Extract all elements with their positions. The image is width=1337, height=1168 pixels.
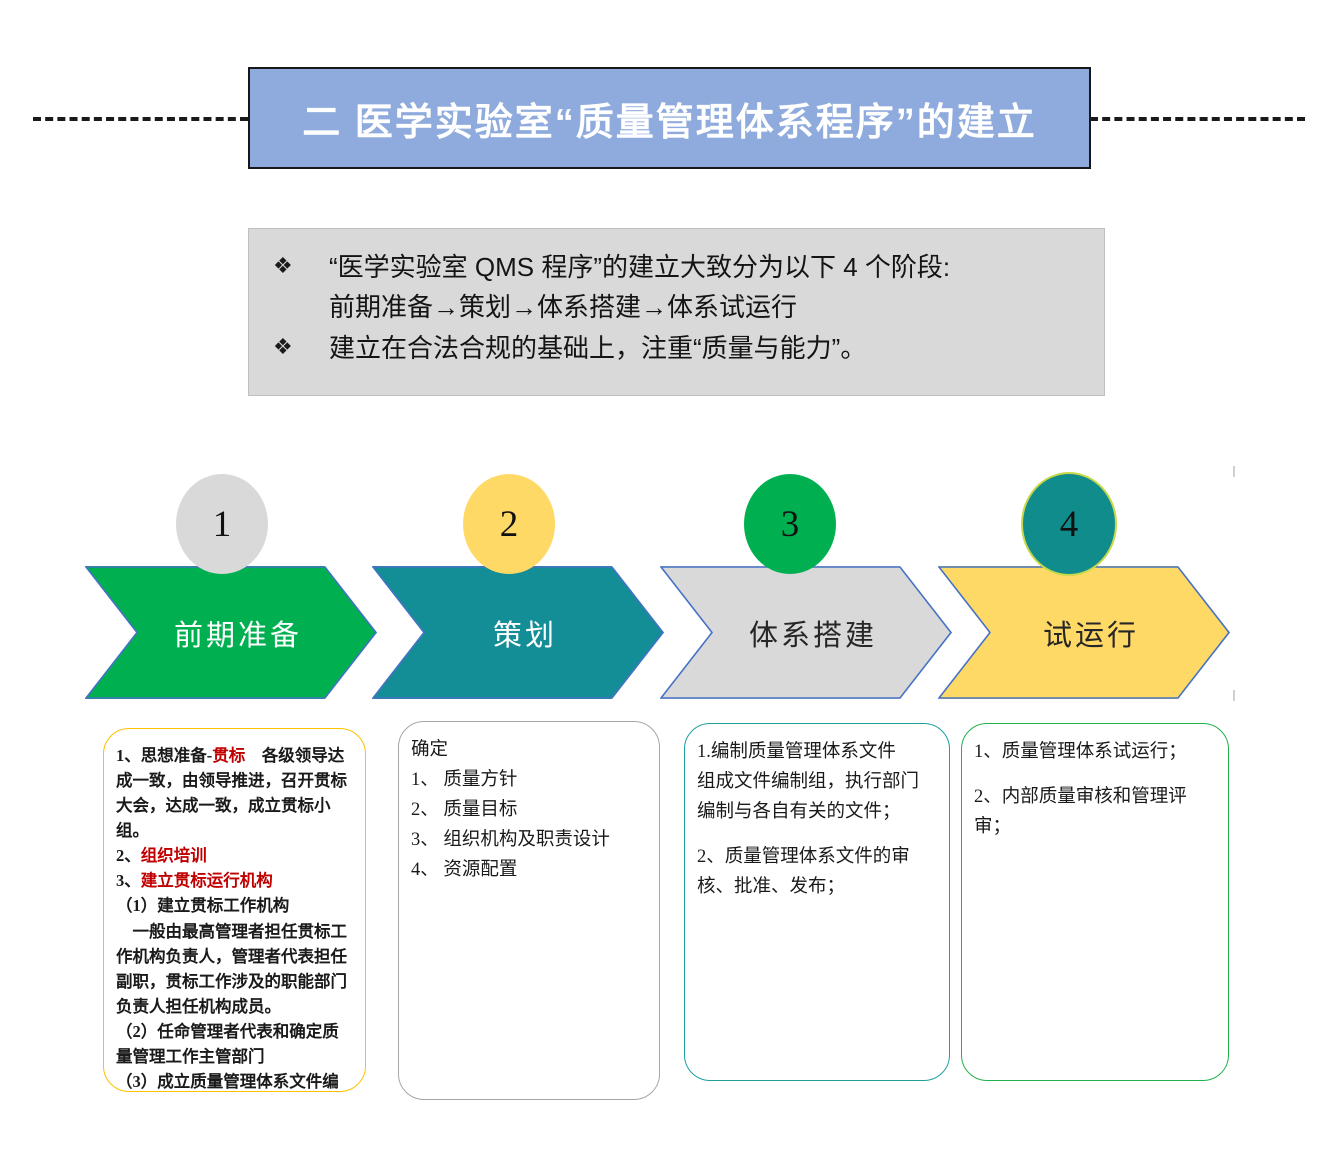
detail-line xyxy=(974,768,1216,783)
stage-detail-box-3[interactable]: 1.编制质量管理体系文件组成文件编制组，执行部门编制与各自有关的文件； 2、质量… xyxy=(684,723,950,1081)
detail-text: （1）建立贯标工作机构 xyxy=(116,896,289,915)
detail-text: 3、 xyxy=(116,871,141,890)
title-row: 二 医学实验室“质量管理体系程序”的建立 xyxy=(0,67,1337,169)
detail-text: 1.编制质量管理体系文件 xyxy=(697,742,896,762)
detail-text: 1、质量管理体系试运行； xyxy=(974,742,1187,762)
detail-text: （3）成立质量管理体系文件编写小组 xyxy=(116,1072,339,1092)
diamond-bullet-icon: ❖ xyxy=(273,247,329,286)
stage-chevron-3[interactable]: 体系搭建 xyxy=(660,566,952,699)
detail-line: 确定 xyxy=(411,736,647,766)
detail-text-highlight: 建立贯标运行机构 xyxy=(141,871,273,890)
detail-text: 3、 组织机构及职责设计 xyxy=(411,830,610,850)
stage-chevron-1[interactable]: 前期准备 xyxy=(85,566,377,699)
detail-line: 2、质量管理体系文件的审核、批准、发布； xyxy=(697,843,937,903)
detail-text: 1、 质量方针 xyxy=(411,770,517,790)
stage-detail-text: 1、思想准备-贯标 各级领导达成一致，由领导推进，召开贯标大会，达成一致，成立贯… xyxy=(104,729,365,1092)
stage-number-label: 2 xyxy=(500,503,519,546)
detail-line xyxy=(697,828,937,843)
stage-detail-text: 确定1、 质量方针2、 质量目标3、 组织机构及职责设计4、 资源配置 xyxy=(399,722,659,900)
detail-line: （1）建立贯标工作机构 xyxy=(116,893,353,918)
decorative-tick-top-icon xyxy=(1233,466,1235,477)
slide-title-banner: 二 医学实验室“质量管理体系程序”的建立 xyxy=(248,67,1091,169)
detail-line: 3、建立贯标运行机构 xyxy=(116,868,353,893)
note-item-1-subtext: 前期准备→策划→体系搭建→体系试运行 xyxy=(273,287,1080,327)
stage-number-circle-2[interactable]: 2 xyxy=(463,474,555,574)
note-item-1-text: “医学实验室 QMS 程序”的建立大致分为以下 4 个阶段: xyxy=(329,247,1080,287)
stage-detail-text: 1、质量管理体系试运行； 2、内部质量审核和管理评审； xyxy=(962,724,1228,857)
detail-text: （2）任命管理者代表和确定质量管理工作主管部门 xyxy=(116,1022,339,1066)
note-item-1: ❖ “医学实验室 QMS 程序”的建立大致分为以下 4 个阶段: xyxy=(273,247,1080,287)
stage-number-circle-4[interactable]: 4 xyxy=(1023,474,1115,574)
stage-chevron-label: 体系搭建 xyxy=(749,612,877,654)
note-item-2: ❖ 建立在合法合规的基础上，注重“质量与能力”。 xyxy=(273,328,1080,368)
detail-text: 4、 资源配置 xyxy=(411,860,517,880)
detail-line: （2）任命管理者代表和确定质量管理工作主管部门 xyxy=(116,1019,353,1069)
detail-line: 2、 质量目标 xyxy=(411,796,647,826)
note-item-2-text: 建立在合法合规的基础上，注重“质量与能力”。 xyxy=(329,328,1080,368)
detail-line: 1、质量管理体系试运行； xyxy=(974,738,1216,768)
detail-line: 2、组织培训 xyxy=(116,843,353,868)
stage-number-label: 3 xyxy=(781,503,800,546)
detail-text: 2、质量管理体系文件的审核、批准、发布； xyxy=(697,847,910,897)
stage-number-label: 4 xyxy=(1060,503,1079,546)
detail-text-highlight: 贯标 xyxy=(212,746,245,765)
stage-detail-box-2[interactable]: 确定1、 质量方针2、 质量目标3、 组织机构及职责设计4、 资源配置 xyxy=(398,721,660,1100)
stage-chevron-2[interactable]: 策划 xyxy=(372,566,664,699)
decorative-tick-bottom-icon xyxy=(1233,690,1235,701)
detail-text: 确定 xyxy=(411,740,448,760)
detail-text: 2、 质量目标 xyxy=(411,800,517,820)
diamond-bullet-icon: ❖ xyxy=(273,328,329,367)
detail-line: 2、内部质量审核和管理评审； xyxy=(974,783,1216,843)
stage-number-circle-1[interactable]: 1 xyxy=(176,474,268,574)
stage-detail-box-1[interactable]: 1、思想准备-贯标 各级领导达成一致，由领导推进，召开贯标大会，达成一致，成立贯… xyxy=(103,728,366,1092)
detail-text: 1、思想准备- xyxy=(116,746,212,765)
detail-text-highlight: 组织培训 xyxy=(141,846,207,865)
dash-dot-line-right-icon xyxy=(1090,117,1305,121)
detail-line: （3）成立质量管理体系文件编写小组 xyxy=(116,1069,353,1092)
detail-line: 一般由最高管理者担任贯标工作机构负责人，管理者代表担任副职，贯标工作涉及的职能部… xyxy=(116,919,353,1019)
dash-dot-line-left-icon xyxy=(33,117,248,121)
stage-chevron-label: 策划 xyxy=(493,612,557,654)
summary-note-box: ❖ “医学实验室 QMS 程序”的建立大致分为以下 4 个阶段: 前期准备→策划… xyxy=(248,228,1105,396)
detail-text: 一般由最高管理者担任贯标工作机构负责人，管理者代表担任副职，贯标工作涉及的职能部… xyxy=(116,922,347,1016)
detail-text: 组成文件编制组，执行部门编制与各自有关的文件； xyxy=(697,772,919,822)
detail-text: 2、内部质量审核和管理评审； xyxy=(974,787,1187,837)
detail-line: 1.编制质量管理体系文件 xyxy=(697,738,937,768)
page-title: 二 医学实验室“质量管理体系程序”的建立 xyxy=(302,91,1037,146)
detail-text: 2、 xyxy=(116,846,141,865)
stage-chevron-4[interactable]: 试运行 xyxy=(938,566,1230,699)
stage-chevron-label: 前期准备 xyxy=(174,612,302,654)
detail-line: 3、 组织机构及职责设计 xyxy=(411,826,647,856)
stage-detail-box-4[interactable]: 1、质量管理体系试运行； 2、内部质量审核和管理评审； xyxy=(961,723,1229,1081)
stage-number-label: 1 xyxy=(213,503,232,546)
detail-line: 4、 资源配置 xyxy=(411,856,647,886)
stage-detail-text: 1.编制质量管理体系文件组成文件编制组，执行部门编制与各自有关的文件； 2、质量… xyxy=(685,724,949,917)
detail-line: 1、 质量方针 xyxy=(411,766,647,796)
stage-number-circle-3[interactable]: 3 xyxy=(744,474,836,574)
detail-line: 1、思想准备-贯标 各级领导达成一致，由领导推进，召开贯标大会，达成一致，成立贯… xyxy=(116,743,353,843)
detail-line: 组成文件编制组，执行部门编制与各自有关的文件； xyxy=(697,768,937,828)
stage-chevron-label: 试运行 xyxy=(1043,612,1139,654)
